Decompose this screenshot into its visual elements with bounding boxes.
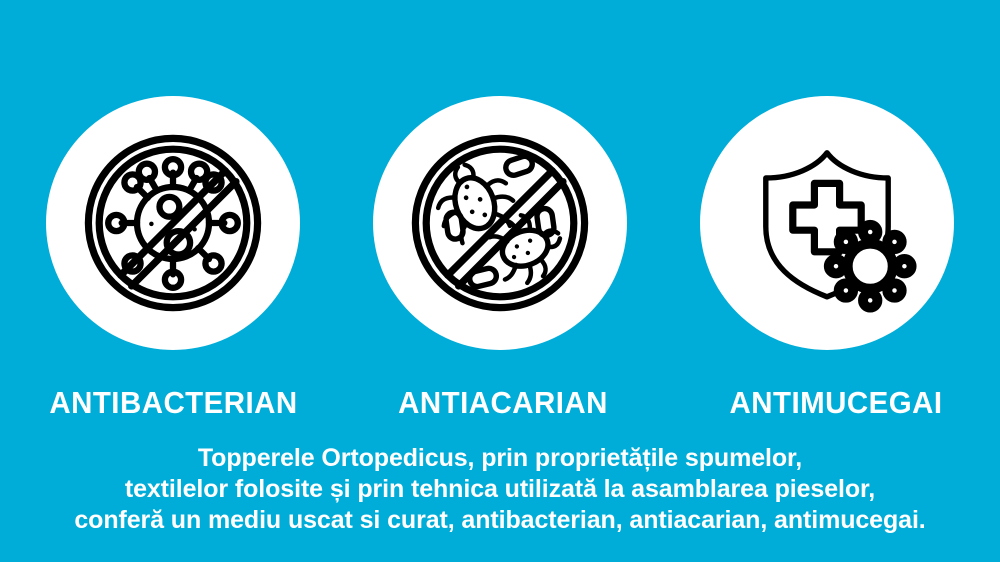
icon-disc-antimucegai	[700, 96, 954, 350]
no-bacteria-icon	[83, 133, 263, 313]
feature-antibacterian	[46, 96, 300, 350]
promo-banner: ANTIBACTERIAN ANTIACARIAN ANTIMUCEGAI To…	[0, 0, 1000, 562]
caption-line-2: textilelor folosite și prin tehnica util…	[0, 474, 1000, 505]
shield-mold-protection-icon	[737, 133, 917, 313]
feature-labels-row: ANTIBACTERIAN ANTIACARIAN ANTIMUCEGAI	[0, 382, 1000, 424]
feature-label-antibacterian: ANTIBACTERIAN	[49, 382, 290, 424]
icon-disc-antibacterian	[46, 96, 300, 350]
caption-line-3: conferă un mediu uscat si curat, antibac…	[0, 505, 1000, 536]
no-dust-mites-icon	[410, 133, 590, 313]
feature-icons-row	[0, 96, 1000, 352]
icon-disc-antiacarian	[373, 96, 627, 350]
feature-antiacarian	[373, 96, 627, 350]
feature-antimucegai	[700, 96, 954, 350]
feature-label-antimucegai: ANTIMUCEGAI	[715, 382, 956, 424]
caption-line-1: Topperele Ortopedicus, prin proprietățil…	[0, 443, 1000, 474]
feature-label-antiacarian: ANTIACARIAN	[382, 382, 623, 424]
caption-paragraph: Topperele Ortopedicus, prin proprietățil…	[0, 443, 1000, 536]
